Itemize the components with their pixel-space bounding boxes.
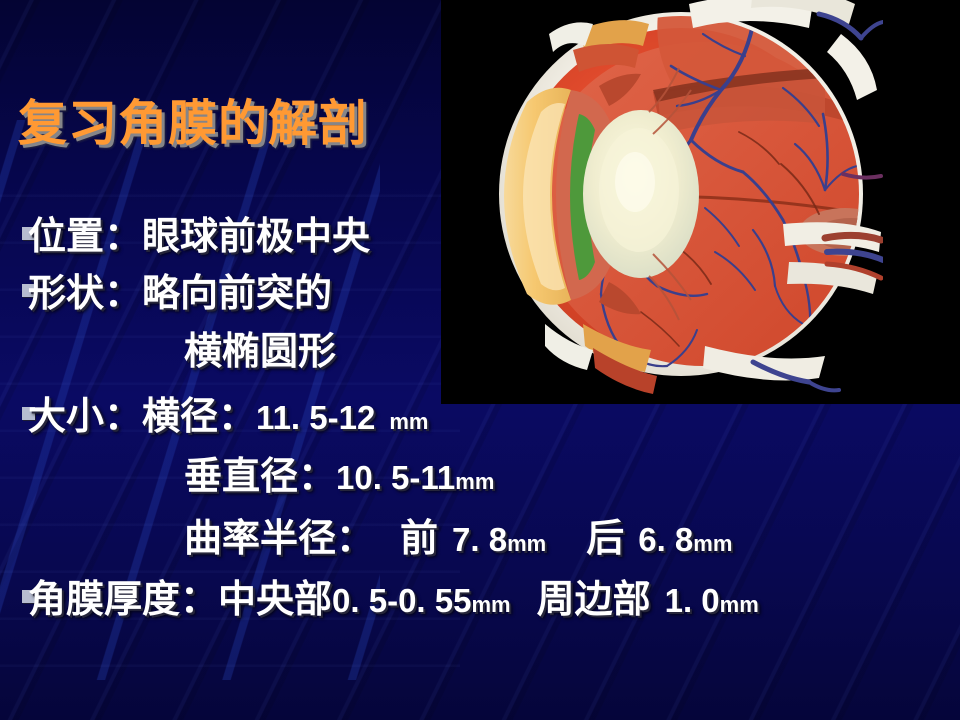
eye-anatomy-image-panel (441, 0, 960, 404)
corneal-thickness-label: 角膜厚度： (0, 568, 218, 623)
corneal-thickness-periph-value: 1. 0 (665, 582, 720, 619)
list-item-shape: 形状：略向前突的 (0, 262, 332, 317)
slide-canvas: 复习角膜的解剖 (0, 0, 960, 720)
vertical-diameter-label: 垂直径： (184, 454, 336, 498)
list-item-size: 大小：横径：11. 5-12mm (0, 385, 428, 440)
corneal-thickness-center-label: 中央部 (218, 577, 332, 621)
curvature-front-unit: mm (507, 531, 546, 556)
list-item-location-label: 位置： (0, 205, 142, 260)
corneal-thickness-periph-unit: mm (720, 592, 759, 617)
curvature-radius-label: 曲率半径： (184, 516, 374, 560)
list-item-location: 位置：眼球前极中央 (0, 205, 370, 260)
list-item-size-label: 大小： (0, 385, 142, 440)
vertical-diameter-unit: mm (455, 469, 494, 494)
curvature-back-label: 后 (586, 516, 624, 560)
list-item-shape-label: 形状： (0, 262, 142, 317)
eye-anatomy-cross-section-icon (453, 0, 883, 404)
corneal-thickness-periph-label: 周边部 (537, 577, 651, 621)
curvature-back-value: 6. 8 (638, 521, 693, 558)
curvature-front-value: 7. 8 (452, 521, 507, 558)
horizontal-diameter-value: 11. 5-12 (256, 399, 375, 436)
list-item-location-value: 眼球前极中央 (142, 214, 370, 258)
list-item-shape-value: 略向前突的 (142, 271, 332, 315)
list-item-shape-continued: 横椭圆形 (184, 320, 336, 375)
list-item-size-sublabel: 横径： (142, 394, 256, 438)
vertical-diameter-value: 10. 5-11 (336, 459, 455, 496)
corneal-thickness-center-value: 0. 5-0. 55 (332, 582, 471, 619)
horizontal-diameter-unit: mm (389, 409, 428, 434)
list-item-vertical-diameter: 垂直径：10. 5-11mm (184, 445, 494, 500)
list-item-shape-continued-value: 横椭圆形 (184, 329, 336, 373)
curvature-front-label: 前 (400, 516, 438, 560)
list-item-corneal-thickness: 角膜厚度：中央部0. 5-0. 55mm周边部1. 0mm (0, 568, 759, 623)
curvature-back-unit: mm (693, 531, 732, 556)
list-item-curvature-radius: 曲率半径：前7. 8mm后6. 8mm (184, 507, 732, 562)
slide-title: 复习角膜的解剖 (18, 84, 368, 155)
corneal-thickness-center-unit: mm (471, 592, 510, 617)
